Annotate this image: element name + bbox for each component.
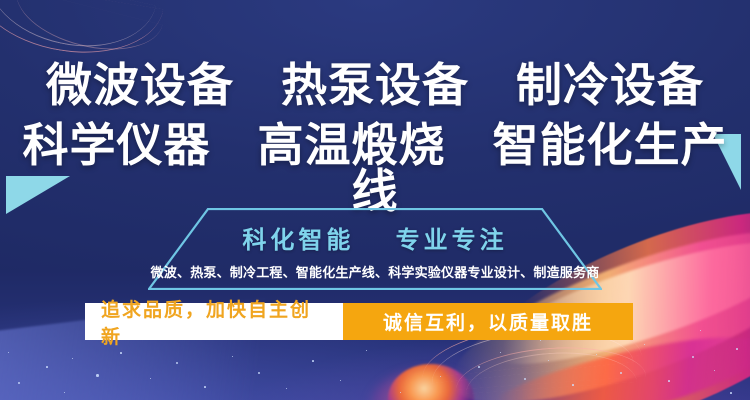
slogan-ribbon-quality: 追求品质，加快自主创新 <box>85 303 343 340</box>
light-ribbon-icon <box>10 6 160 46</box>
sub-slogan: 科化智能 专业专注 <box>0 220 750 255</box>
service-description: 微波、热泵、制冷工程、智能化生产线、科学实验仪器专业设计、制造服务商 <box>0 262 750 281</box>
headline-line-2: 科学仪器 高温煅烧 智能化生产线 <box>0 122 750 214</box>
slogan-left: 科化智能 <box>242 227 354 254</box>
slogan-ribbon-integrity: 诚信互利，以质量取胜 <box>343 303 633 340</box>
slogan-ribbon-group: 追求品质，加快自主创新 诚信互利，以质量取胜 <box>85 303 633 340</box>
headline-line-1: 微波设备 热泵设备 制冷设备 <box>0 62 750 108</box>
slogan-right: 专业专注 <box>396 227 508 254</box>
page-title: 微波设备 热泵设备 制冷设备 科学仪器 高温煅烧 智能化生产线 <box>0 62 750 214</box>
promotional-banner: 微波设备 热泵设备 制冷设备 科学仪器 高温煅烧 智能化生产线 科化智能 专业专… <box>0 0 750 400</box>
